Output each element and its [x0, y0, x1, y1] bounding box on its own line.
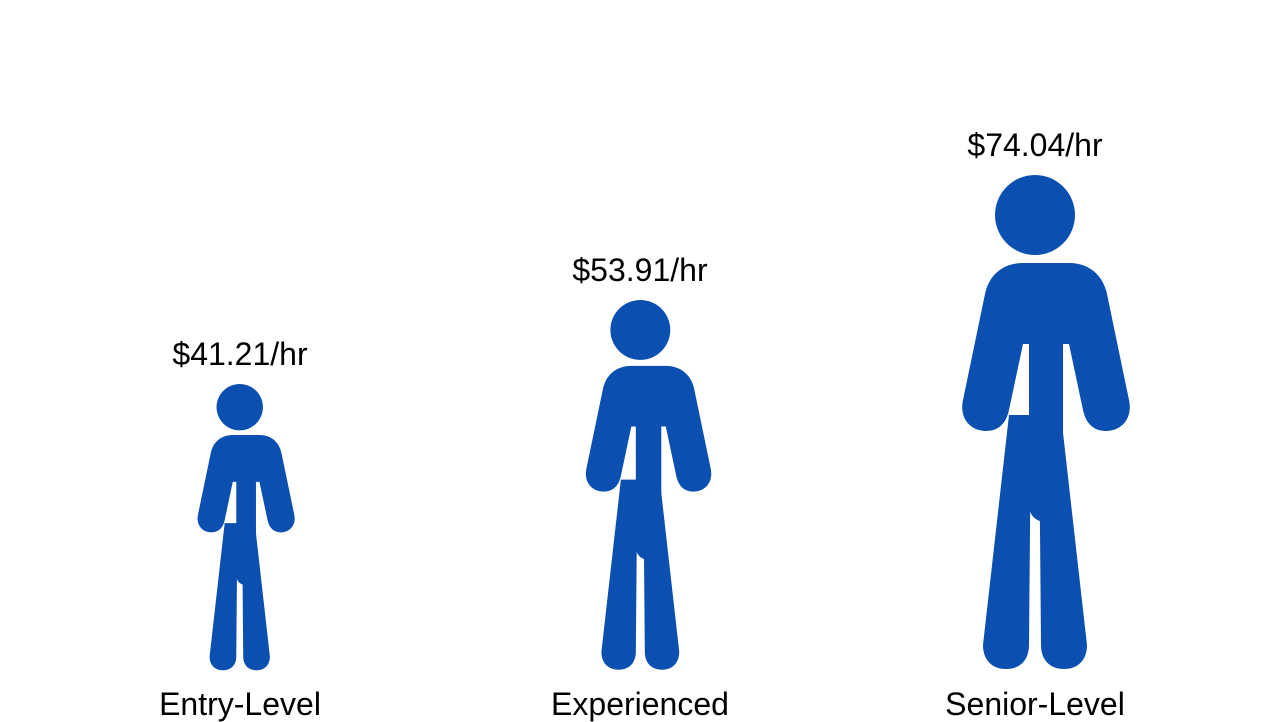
value-label: $41.21/hr: [172, 338, 307, 370]
pictogram-column-experienced: $53.91/hr Experienced: [558, 254, 723, 720]
person-figure-icon: [176, 384, 303, 672]
pictogram-chart: $41.21/hr Entry-Level $53.91/hr: [0, 0, 1280, 720]
value-label: $74.04/hr: [967, 129, 1102, 161]
pictogram-column-senior-level: $74.04/hr Senior-Level: [925, 129, 1145, 720]
category-label: Entry-Level: [159, 688, 321, 720]
category-label: Senior-Level: [945, 688, 1125, 720]
person-figure-icon: [925, 175, 1145, 672]
value-label: $53.91/hr: [572, 254, 707, 286]
pictogram-column-entry-level: $41.21/hr Entry-Level: [176, 338, 303, 720]
person-figure-icon: [558, 300, 723, 672]
category-label: Experienced: [551, 688, 729, 720]
